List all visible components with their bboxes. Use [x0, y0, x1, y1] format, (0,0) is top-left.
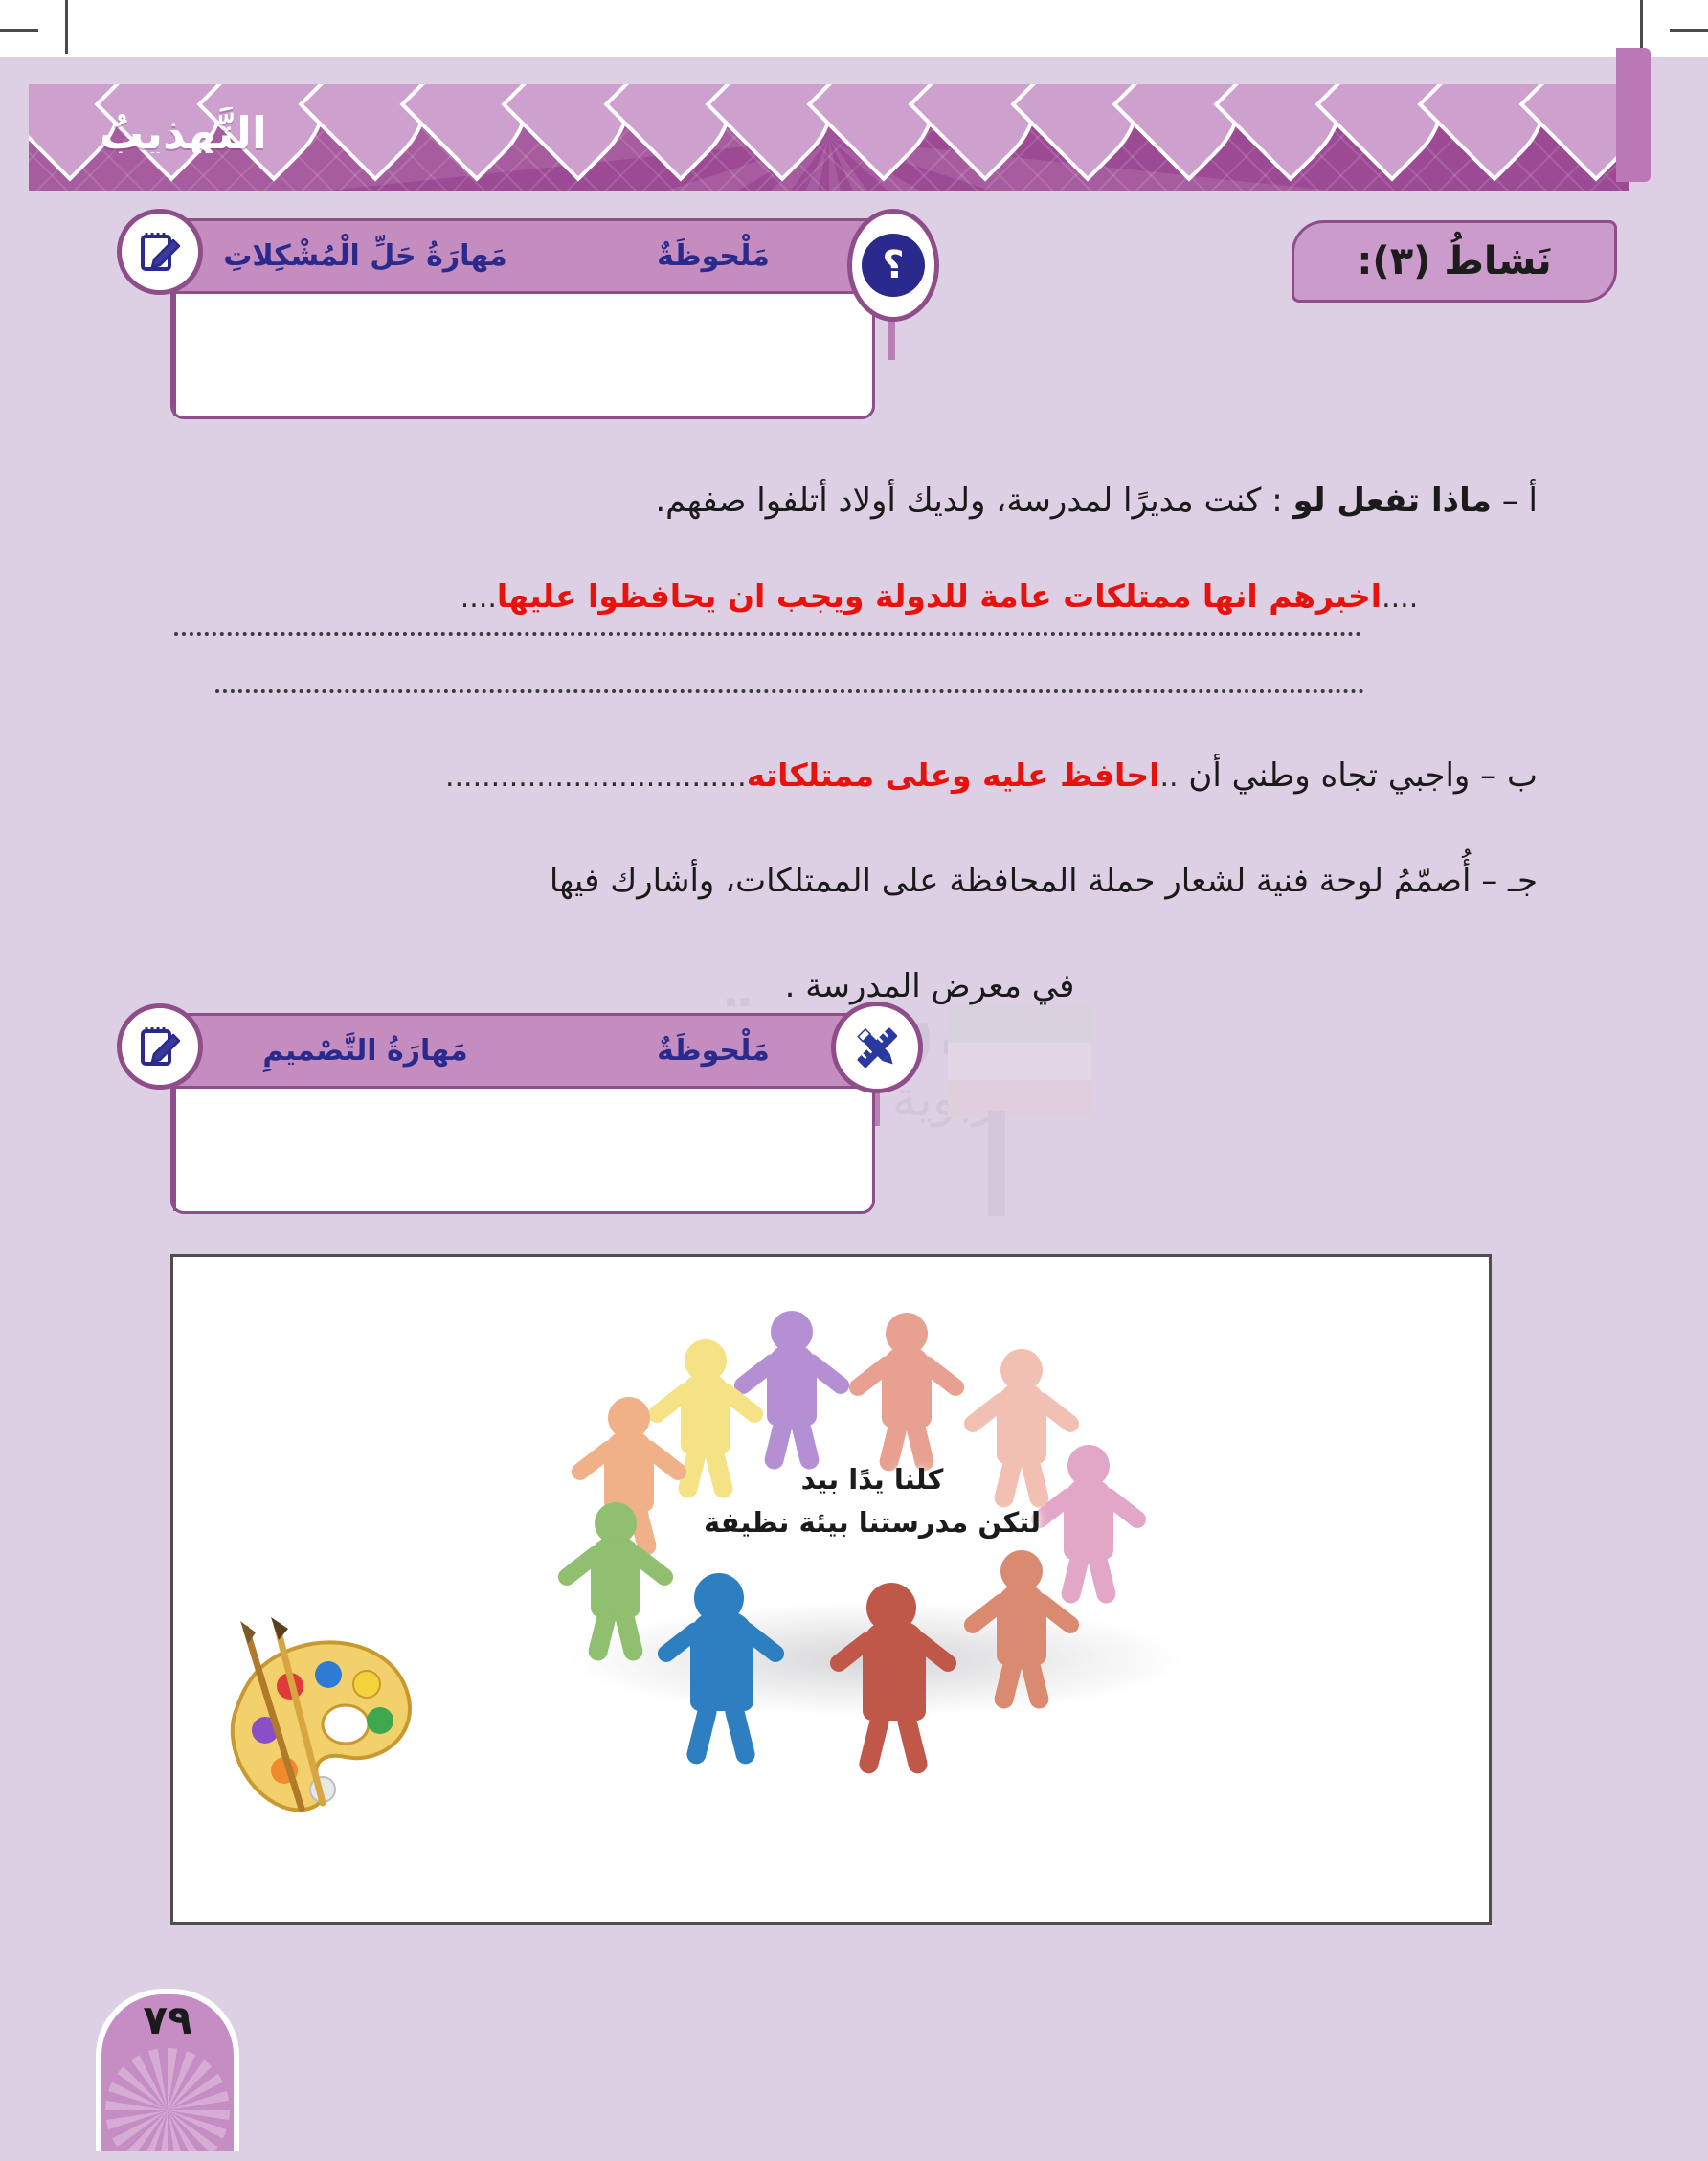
- leader-dots-right: ....: [461, 581, 497, 615]
- crop-mark-top-right-v: [1640, 0, 1643, 54]
- header-scallops: [29, 84, 1629, 151]
- question-c-marker: جـ –: [1481, 862, 1538, 900]
- skill-table-body: [170, 291, 875, 419]
- chapter-title: التَّهذيبُ: [100, 107, 267, 153]
- page-number-plaque: ٧٩: [96, 1989, 239, 2151]
- textbook-page: مدرستي التربوية school-kw.com التَّهذيبُ…: [0, 0, 1708, 2161]
- answer-rule-a-1[interactable]: [174, 632, 1361, 636]
- skill-input-cell-problem-solving[interactable]: [173, 294, 554, 416]
- skill-label-problem-solving: مَهارَةُ حَلِّ الْمُشْكِلاتِ: [173, 221, 554, 291]
- question-badge-circle: ؟: [862, 234, 925, 297]
- question-c-line2: في معرض المدرسة .: [322, 962, 1538, 1011]
- note-input-cell-problem-solving[interactable]: [554, 294, 872, 416]
- question-a-rest: : كنت مديرًا لمدرسة، ولديك أولاد أتلفوا …: [655, 482, 1282, 520]
- skill-table-body-design: [170, 1086, 875, 1214]
- notebook-pencil-icon: [117, 209, 203, 295]
- crop-mark-top-left: [0, 29, 38, 32]
- crop-mark-top-right: [1670, 29, 1708, 32]
- question-a-answer-line1[interactable]: ....اخبرهم انها ممتلكات عامة للدولة ويجب…: [341, 573, 1538, 621]
- question-b-rest: واجبي تجاه وطني أن: [1188, 756, 1470, 795]
- poster-slogan: كلنا يدًا بيد لتكن مدرستنا بيئة نظيفة: [662, 1458, 1083, 1544]
- art-palette-icon: [202, 1611, 432, 1832]
- page-number: ٧٩: [96, 1996, 239, 2043]
- notebook-pencil-icon: [117, 1003, 203, 1090]
- question-b-marker: ب –: [1480, 756, 1538, 795]
- chapter-header-band: [29, 84, 1629, 191]
- question-mark-icon: ؟: [847, 209, 939, 322]
- skill-table-problem-solving: مَهارَةُ حَلِّ الْمُشْكِلاتِ مَلْحوظَةٌ: [170, 218, 875, 419]
- crop-mark-top-left-v: [65, 0, 68, 54]
- answer-rule-a-2[interactable]: [215, 689, 1364, 693]
- answer-b-text: احافظ عليه وعلى ممتلكاته: [747, 756, 1160, 794]
- poster-slogan-line1: كلنا يدًا بيد: [662, 1458, 1083, 1501]
- skill-table-header-design: مَهارَةُ التَّصْميمِ مَلْحوظَةٌ: [170, 1013, 875, 1086]
- answer-a-text: اخبرهم انها ممتلكات عامة للدولة ويجب ان …: [497, 577, 1382, 615]
- note-label-design: مَلْحوظَةٌ: [554, 1016, 872, 1086]
- question-b: ب – واجبي تجاه وطني أن ..احافظ عليه وعلى…: [331, 752, 1538, 800]
- poster-slogan-line2: لتكن مدرستنا بيئة نظيفة: [662, 1501, 1083, 1544]
- question-a-marker: أ –: [1502, 482, 1538, 520]
- question-a: أ – ماذا تفعل لو : كنت مديرًا لمدرسة، ول…: [389, 477, 1538, 526]
- leader-dots-b-post: .................................: [445, 760, 747, 794]
- header-right-tab: [1616, 48, 1651, 182]
- skill-input-cell-design[interactable]: [173, 1089, 554, 1211]
- skill-table-design: مَهارَةُ التَّصْميمِ مَلْحوظَةٌ: [170, 1013, 875, 1214]
- question-c: جـ – أُصمّمُ لوحة فنية لشعار حملة المحاف…: [322, 857, 1538, 906]
- skill-table-header: مَهارَةُ حَلِّ الْمُشْكِلاتِ مَلْحوظَةٌ: [170, 218, 875, 291]
- leader-dots-left: ....: [1382, 581, 1418, 615]
- ruler-pencil-icon: [831, 1002, 923, 1093]
- question-a-bold: ماذا تفعل لو: [1292, 482, 1491, 520]
- question-c-rest2: في معرض المدرسة .: [785, 967, 1075, 1005]
- leader-dots-b-pre: ..: [1159, 760, 1178, 794]
- poster-artwork: كلنا يدًا بيد لتكن مدرستنا بيئة نظيفة: [547, 1295, 1207, 1774]
- question-badge-oval: ؟: [847, 209, 939, 322]
- artwork-frame: كلنا يدًا بيد لتكن مدرستنا بيئة نظيفة: [170, 1254, 1492, 1925]
- question-c-rest: أُصمّمُ لوحة فنية لشعار حملة المحافظة عل…: [550, 862, 1472, 900]
- skill-label-design: مَهارَةُ التَّصْميمِ: [173, 1016, 554, 1086]
- activity-label: نَشاطُ (٣):: [1292, 220, 1617, 303]
- note-input-cell-design[interactable]: [554, 1089, 872, 1211]
- note-label-problem-solving: مَلْحوظَةٌ: [554, 221, 872, 291]
